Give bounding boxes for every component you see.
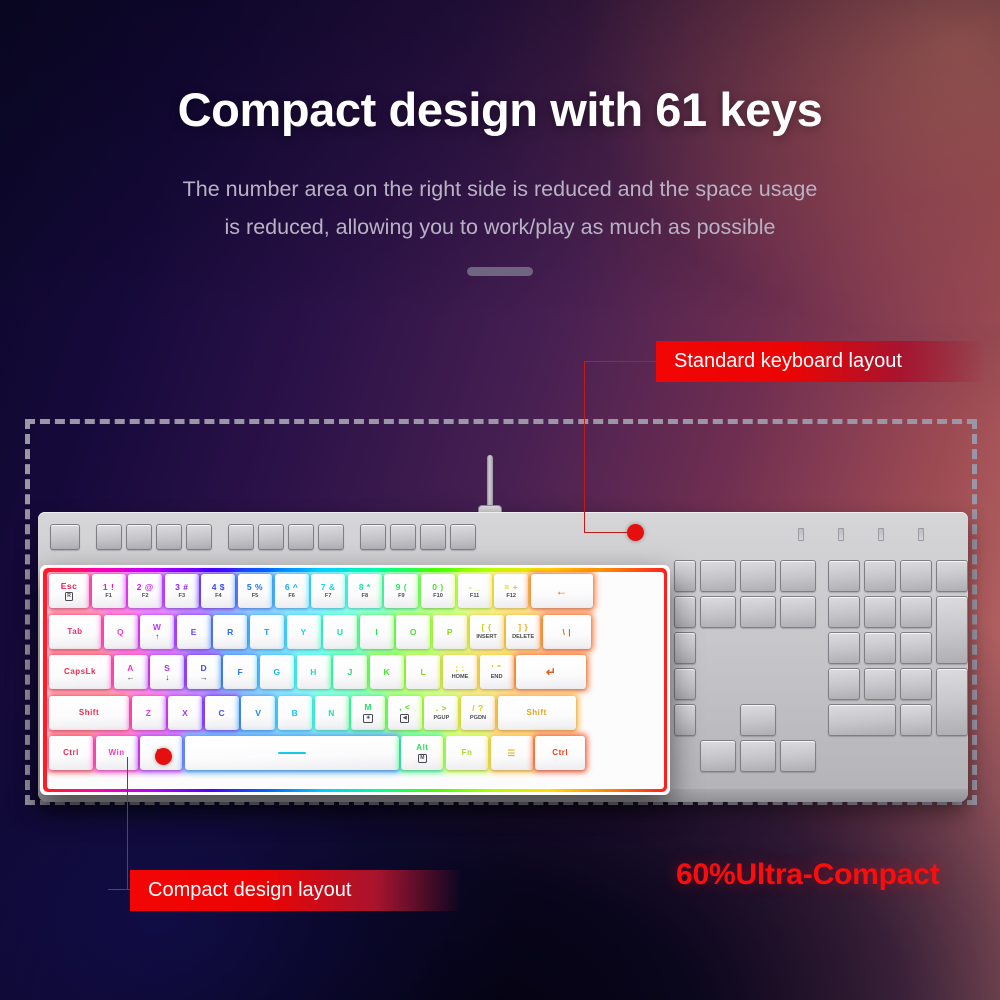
full-keyboard-key-numpad bbox=[828, 668, 860, 700]
full-keyboard-key-numpad bbox=[828, 560, 860, 592]
key-space[interactable]: . >PGUP bbox=[424, 696, 458, 730]
full-keyboard-key-esc bbox=[50, 524, 80, 550]
full-keyboard-key-function bbox=[186, 524, 212, 550]
key-v[interactable]: V bbox=[241, 696, 275, 730]
key-primary-legend: Z bbox=[146, 708, 152, 718]
leader-line-compact-horizontal bbox=[108, 889, 132, 890]
full-keyboard-key-arrow-left bbox=[700, 740, 736, 772]
full-keyboard-key-numpad bbox=[900, 596, 932, 628]
key-secondary-legend: END bbox=[491, 674, 503, 681]
key-fn[interactable]: Fn bbox=[446, 736, 488, 770]
key-q[interactable]: Q bbox=[104, 615, 138, 649]
key-l[interactable]: L bbox=[406, 655, 440, 689]
key-secondary-legend: HOME bbox=[452, 674, 469, 681]
full-keyboard-key-nav bbox=[700, 560, 736, 592]
keyboard-row-shift-row: ShiftZXCVBNM☀, <◀. >PGUP/ ?PGDNShift bbox=[49, 696, 661, 732]
key-primary-legend: / ? bbox=[472, 703, 483, 713]
keyboard-indicator-led bbox=[838, 528, 844, 541]
key-primary-legend: 6 ^ bbox=[285, 582, 299, 592]
leader-line-compact-vertical bbox=[127, 757, 128, 889]
key-primary-legend: Y bbox=[301, 627, 307, 637]
full-keyboard-key-function bbox=[360, 524, 386, 550]
full-keyboard-key-numpad-zero bbox=[828, 704, 896, 736]
keyboard-indicator-led bbox=[918, 528, 924, 541]
key-primary-legend: 3 # bbox=[175, 582, 188, 592]
key-primary-legend: T bbox=[264, 627, 270, 637]
key-secondary-legend: F5 bbox=[252, 593, 259, 600]
key-alt[interactable]: AltM bbox=[401, 736, 443, 770]
key-space[interactable] bbox=[185, 736, 399, 770]
full-keyboard-key-numpad bbox=[864, 632, 896, 664]
full-keyboard-key-function bbox=[228, 524, 254, 550]
key-primary-legend: 2 @ bbox=[137, 582, 154, 592]
keyboard-row-bottom-row: CtrlWinAltAltMFn☰Ctrl bbox=[49, 736, 661, 772]
key-primary-legend: ; : bbox=[455, 663, 465, 673]
full-keyboard-key-numpad bbox=[900, 560, 932, 592]
full-keyboard-key-numpad bbox=[864, 668, 896, 700]
callout-standard-keyboard-layout: Standard keyboard layout bbox=[656, 341, 986, 382]
key-6[interactable]: 6 ^F6 bbox=[275, 574, 309, 608]
key-secondary-legend: M bbox=[418, 754, 427, 763]
key-space[interactable]: - _F11 bbox=[458, 574, 492, 608]
keyboard-row-number-row: EscR1 !F12 @F23 #F34 $F45 %F56 ^F67 &F78… bbox=[49, 574, 661, 610]
key-secondary-legend: ↑ bbox=[155, 633, 159, 641]
full-keyboard-key-arrow-up bbox=[740, 704, 776, 736]
key-secondary-legend: ↓ bbox=[165, 674, 169, 682]
key-secondary-legend-box: M bbox=[418, 754, 427, 763]
full-keyboard-key-function bbox=[288, 524, 314, 550]
key-primary-legend: N bbox=[328, 708, 335, 718]
full-keyboard-key-numpad-enter bbox=[936, 668, 968, 736]
key-primary-legend: W bbox=[153, 622, 162, 632]
key-secondary-legend: F8 bbox=[362, 593, 369, 600]
key-space[interactable]: [ {INSERT bbox=[470, 615, 504, 649]
key-secondary-legend: F2 bbox=[142, 593, 149, 600]
full-keyboard-key-nav bbox=[780, 560, 816, 592]
full-keyboard-key-function bbox=[390, 524, 416, 550]
key-n[interactable]: N bbox=[315, 696, 349, 730]
key-secondary-legend: ☀ bbox=[363, 714, 373, 723]
full-keyboard-key-nav bbox=[740, 560, 776, 592]
key-o[interactable]: O bbox=[396, 615, 430, 649]
key-primary-legend: B bbox=[292, 708, 299, 718]
key-primary-legend: Ctrl bbox=[552, 748, 568, 758]
page-title: Compact design with 61 keys bbox=[0, 82, 1000, 137]
key-primary-legend: E bbox=[191, 627, 197, 637]
key-u[interactable]: U bbox=[323, 615, 357, 649]
key-space[interactable]: , <◀ bbox=[388, 696, 422, 730]
key-primary-legend: Shift bbox=[79, 708, 99, 718]
full-keyboard-key-function bbox=[126, 524, 152, 550]
key-secondary-legend: F11 bbox=[470, 593, 479, 600]
full-keyboard-key-function bbox=[258, 524, 284, 550]
key-9[interactable]: 9 (F9 bbox=[384, 574, 418, 608]
key-primary-legend: O bbox=[410, 627, 417, 637]
full-keyboard-key-numpad bbox=[864, 596, 896, 628]
key-primary-legend: 7 & bbox=[321, 582, 336, 592]
key-ctrl[interactable]: Ctrl bbox=[535, 736, 585, 770]
full-keyboard-key-nav bbox=[780, 596, 816, 628]
key-k[interactable]: K bbox=[370, 655, 404, 689]
key-space[interactable]: ↵ bbox=[516, 655, 586, 689]
key-secondary-legend: F1 bbox=[105, 593, 112, 600]
key-primary-legend: I bbox=[375, 627, 378, 637]
callout-compact-design-layout: Compact design layout bbox=[130, 870, 462, 911]
callout-standard-label: Standard keyboard layout bbox=[656, 350, 902, 373]
key-c[interactable]: C bbox=[205, 696, 239, 730]
key-p[interactable]: P bbox=[433, 615, 467, 649]
key-primary-legend: K bbox=[383, 667, 390, 677]
key-shift[interactable]: Shift bbox=[498, 696, 576, 730]
full-keyboard-key-numpad-plus bbox=[936, 596, 968, 664]
key-i[interactable]: I bbox=[360, 615, 394, 649]
key-primary-legend: D bbox=[200, 663, 207, 673]
keyboard-indicator-led bbox=[878, 528, 884, 541]
key-primary-legend: Fn bbox=[462, 748, 473, 758]
key-secondary-legend: ← bbox=[127, 674, 135, 682]
key-secondary-legend: R bbox=[65, 592, 74, 601]
key-0[interactable]: 0 )F10 bbox=[421, 574, 455, 608]
key-primary-legend: G bbox=[273, 667, 280, 677]
key-primary-legend: 8 * bbox=[359, 582, 371, 592]
key-secondary-legend: PGUP bbox=[433, 715, 449, 722]
full-keyboard-key-numpad bbox=[864, 560, 896, 592]
key-shift[interactable]: Shift bbox=[49, 696, 129, 730]
full-keyboard-key-edge bbox=[674, 668, 696, 700]
key-primary-legend: M bbox=[364, 702, 372, 712]
key-f[interactable]: F bbox=[223, 655, 257, 689]
key-primary-legend: . > bbox=[436, 703, 447, 713]
key-4[interactable]: 4 $F4 bbox=[201, 574, 235, 608]
key-d[interactable]: D→ bbox=[187, 655, 221, 689]
spacebar-indicator bbox=[278, 752, 306, 754]
keyboard-row-qwerty-row: TabQW↑ERTYUIOP[ {INSERT] }DELETE\ | bbox=[49, 615, 661, 651]
key-r[interactable]: R bbox=[213, 615, 247, 649]
full-keyboard-key-edge bbox=[674, 596, 696, 628]
full-keyboard-key-numpad-dot bbox=[900, 704, 932, 736]
key-primary-legend: Alt bbox=[416, 743, 428, 753]
full-keyboard-key-arrow-right bbox=[780, 740, 816, 772]
full-keyboard-key-numpad bbox=[828, 596, 860, 628]
key-primary-legend: CapsLk bbox=[64, 667, 96, 677]
key-primary-legend: R bbox=[227, 627, 234, 637]
marker-dot-compact-layout bbox=[155, 748, 172, 765]
ultra-compact-label: 60%Ultra-Compact bbox=[676, 858, 940, 892]
full-keyboard-key-numpad bbox=[900, 632, 932, 664]
key-primary-legend: U bbox=[337, 627, 344, 637]
key-secondary-legend: F12 bbox=[506, 593, 516, 600]
key-8[interactable]: 8 *F8 bbox=[348, 574, 382, 608]
key-primary-legend: - _ bbox=[469, 582, 480, 592]
key-b[interactable]: B bbox=[278, 696, 312, 730]
key-primary-legend: A bbox=[127, 663, 134, 673]
key-secondary-legend: DELETE bbox=[512, 634, 534, 641]
key-y[interactable]: Y bbox=[287, 615, 321, 649]
key-secondary-legend: F3 bbox=[179, 593, 186, 600]
key-primary-legend: C bbox=[218, 708, 225, 718]
key-secondary-legend: F4 bbox=[215, 593, 222, 600]
key-secondary-legend: F9 bbox=[398, 593, 405, 600]
key-primary-legend: 9 ( bbox=[396, 582, 407, 592]
key-secondary-legend: ◀ bbox=[400, 714, 409, 723]
key-space[interactable]: ' "END bbox=[480, 655, 514, 689]
full-keyboard-key-nav bbox=[740, 596, 776, 628]
key-primary-legend: 1 ! bbox=[103, 582, 114, 592]
marker-dot-standard-layout bbox=[627, 524, 644, 541]
key-primary-legend: 4 $ bbox=[212, 582, 225, 592]
full-keyboard-key-edge bbox=[674, 632, 696, 664]
key-a[interactable]: A← bbox=[114, 655, 148, 689]
full-keyboard-key-arrow-down bbox=[740, 740, 776, 772]
full-keyboard-key-function bbox=[450, 524, 476, 550]
key-primary-legend: J bbox=[348, 667, 353, 677]
key-primary-legend: , < bbox=[399, 702, 410, 712]
key-secondary-legend: INSERT bbox=[476, 634, 497, 641]
key-primary-legend: F bbox=[238, 667, 244, 677]
key-primary-legend: X bbox=[182, 708, 188, 718]
full-keyboard-key-function bbox=[156, 524, 182, 550]
key-secondary-legend: F10 bbox=[433, 593, 443, 600]
key-primary-legend: \ | bbox=[562, 627, 571, 637]
full-keyboard-key-nav bbox=[700, 596, 736, 628]
leader-line-standard-vertical bbox=[584, 361, 585, 533]
key-s[interactable]: S↓ bbox=[150, 655, 184, 689]
subtitle-line-2: is reduced, allowing you to work/play as… bbox=[120, 208, 880, 246]
full-keyboard-key-numpad bbox=[828, 632, 860, 664]
key-secondary-legend: F6 bbox=[288, 593, 295, 600]
key-1[interactable]: 1 !F1 bbox=[92, 574, 126, 608]
key-primary-legend: Tab bbox=[67, 627, 82, 637]
key-primary-legend: ] } bbox=[518, 622, 528, 632]
page-subtitle: The number area on the right side is red… bbox=[120, 170, 880, 246]
key-m[interactable]: M☀ bbox=[351, 696, 385, 730]
keycap-grid: EscR1 !F12 @F23 #F34 $F45 %F56 ^F67 &F78… bbox=[49, 574, 661, 786]
key-j[interactable]: J bbox=[333, 655, 367, 689]
full-keyboard-key-function bbox=[420, 524, 446, 550]
sixty-percent-keyboard: EscR1 !F12 @F23 #F34 $F45 %F56 ^F67 &F78… bbox=[40, 565, 670, 795]
key-space[interactable]: ← bbox=[531, 574, 593, 608]
key-2[interactable]: 2 @F2 bbox=[128, 574, 162, 608]
callout-compact-label: Compact design layout bbox=[130, 879, 351, 902]
key-primary-legend: ← bbox=[556, 585, 569, 597]
key-5[interactable]: 5 %F5 bbox=[238, 574, 272, 608]
leader-line-standard-horizontal bbox=[584, 361, 658, 362]
key-t[interactable]: T bbox=[250, 615, 284, 649]
key-primary-legend: S bbox=[164, 663, 170, 673]
key-primary-legend: ↵ bbox=[546, 666, 557, 678]
key-primary-legend: ☰ bbox=[508, 748, 516, 758]
key-primary-legend: Esc bbox=[61, 581, 78, 591]
key-space[interactable]: ; :HOME bbox=[443, 655, 477, 689]
key-primary-legend: Shift bbox=[526, 708, 546, 718]
key-w[interactable]: W↑ bbox=[140, 615, 174, 649]
subtitle-line-1: The number area on the right side is red… bbox=[120, 170, 880, 208]
header-divider bbox=[467, 267, 533, 276]
key-space[interactable]: ] }DELETE bbox=[506, 615, 540, 649]
key-3[interactable]: 3 #F3 bbox=[165, 574, 199, 608]
keyboard-row-home-row: CapsLkA←S↓D→FGHJKL; :HOME' "END↵ bbox=[49, 655, 661, 691]
full-keyboard-key-edge bbox=[674, 560, 696, 592]
key-secondary-legend-box: ◀ bbox=[400, 714, 409, 723]
key-secondary-legend-box: R bbox=[65, 592, 74, 601]
key-h[interactable]: H bbox=[297, 655, 331, 689]
full-keyboard-key-edge bbox=[674, 704, 696, 736]
key-primary-legend: V bbox=[255, 708, 261, 718]
key-space[interactable]: ☰ bbox=[491, 736, 533, 770]
key-e[interactable]: E bbox=[177, 615, 211, 649]
key-primary-legend: P bbox=[447, 627, 453, 637]
key-secondary-legend: F7 bbox=[325, 593, 332, 600]
key-primary-legend: 5 % bbox=[247, 582, 263, 592]
key-primary-legend: Ctrl bbox=[63, 748, 79, 758]
key-primary-legend: L bbox=[421, 667, 427, 677]
key-ctrl[interactable]: Ctrl bbox=[49, 736, 93, 770]
key-space[interactable]: \ | bbox=[543, 615, 591, 649]
key-g[interactable]: G bbox=[260, 655, 294, 689]
key-tab[interactable]: Tab bbox=[49, 615, 101, 649]
key-primary-legend: 0 ) bbox=[432, 582, 443, 592]
key-primary-legend: Q bbox=[117, 627, 124, 637]
key-primary-legend: ' " bbox=[492, 663, 502, 673]
full-keyboard-key-numpad bbox=[900, 668, 932, 700]
key-primary-legend: H bbox=[310, 667, 317, 677]
key-x[interactable]: X bbox=[168, 696, 202, 730]
key-capslk[interactable]: CapsLk bbox=[49, 655, 111, 689]
key-esc[interactable]: EscR bbox=[49, 574, 89, 608]
key-7[interactable]: 7 &F7 bbox=[311, 574, 345, 608]
key-secondary-legend-box: ☀ bbox=[363, 714, 373, 723]
key-z[interactable]: Z bbox=[132, 696, 166, 730]
key-primary-legend: = + bbox=[504, 582, 518, 592]
keyboard-indicator-led bbox=[798, 528, 804, 541]
key-space[interactable]: = +F12 bbox=[494, 574, 528, 608]
key-primary-legend: Win bbox=[109, 748, 125, 758]
full-keyboard-key-function bbox=[318, 524, 344, 550]
key-primary-legend: [ { bbox=[482, 622, 492, 632]
key-win[interactable]: Win bbox=[96, 736, 138, 770]
full-keyboard-key-numpad bbox=[936, 560, 968, 592]
key-secondary-legend: PGDN bbox=[470, 715, 486, 722]
full-keyboard-key-function bbox=[96, 524, 122, 550]
key-secondary-legend: → bbox=[200, 674, 208, 682]
key-space[interactable]: / ?PGDN bbox=[461, 696, 495, 730]
